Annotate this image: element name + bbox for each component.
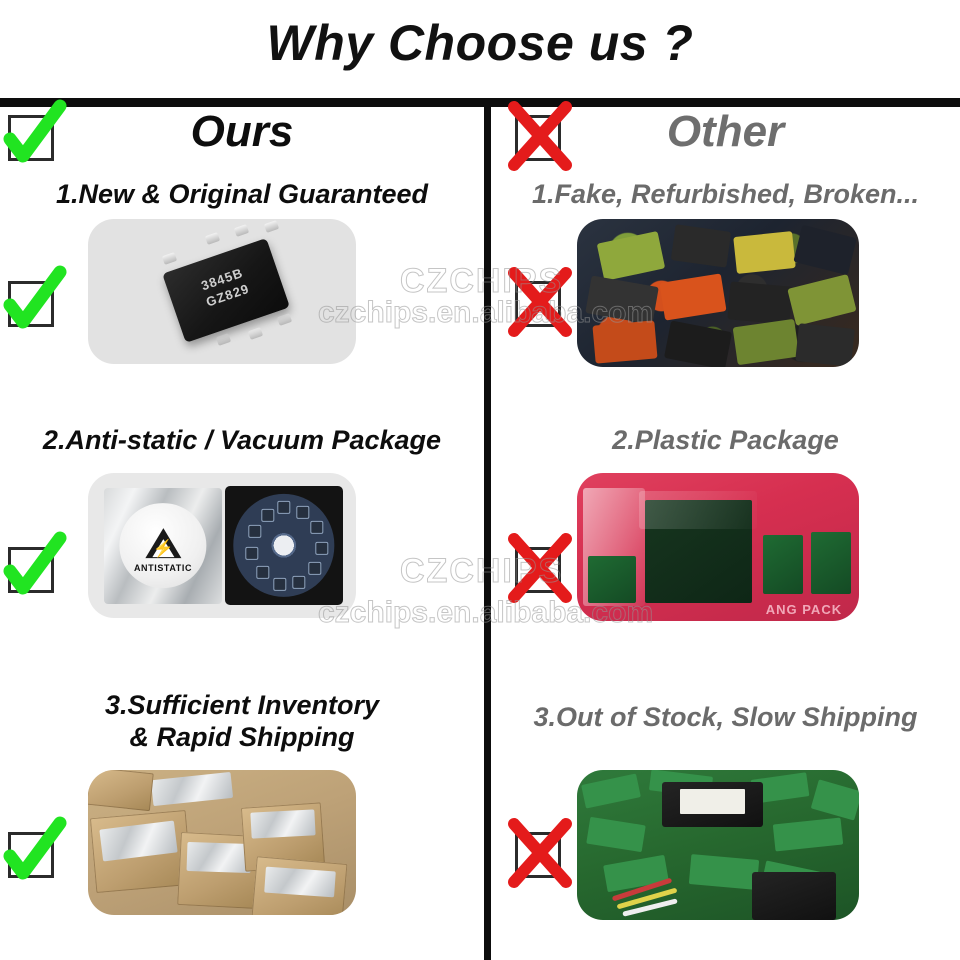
antistatic-bag: ⚡ ANTISTATIC xyxy=(104,488,222,604)
page-title: Why Choose us ? xyxy=(0,18,960,68)
other-column-header: Other xyxy=(491,107,960,179)
check-glyph xyxy=(0,816,70,890)
photo-content: ANG PACK xyxy=(577,473,859,621)
integrated-circuit-chip-photo: 3845B GZ829 xyxy=(88,219,356,364)
other-column: Other 1.Fake, Refurbished, Broken... xyxy=(491,107,960,960)
cartons-of-packed-parts-photo xyxy=(88,770,356,915)
other-row-1-heading: 1.Fake, Refurbished, Broken... xyxy=(491,179,960,211)
header-divider xyxy=(0,98,960,107)
ours-label: Ours xyxy=(0,109,484,155)
antistatic-label: ANTISTATIC xyxy=(119,563,206,573)
ours-row-2-heading: 2.Anti-static / Vacuum Package xyxy=(0,425,484,457)
ours-row-3: 3.Sufficient Inventory & Rapid Shipping xyxy=(0,690,484,960)
other-row-1: 1.Fake, Refurbished, Broken... xyxy=(491,179,960,439)
ours-column: Ours 1.New & Original Guaranteed xyxy=(0,107,484,960)
ours-row-2: 2.Anti-static / Vacuum Package ⚡ xyxy=(0,425,484,690)
lightning-bolt-icon: ⚡ xyxy=(152,540,173,557)
cross-mark-icon xyxy=(515,547,561,593)
cross-mark-icon xyxy=(515,832,561,878)
photo-content xyxy=(577,219,859,367)
cross-glyph xyxy=(503,816,577,890)
reel-disc xyxy=(233,494,334,596)
scrap-chips-pile-photo xyxy=(577,219,859,367)
other-row-2-heading: 2.Plastic Package xyxy=(491,425,960,457)
other-row-2: 2.Plastic Package ANG PACK xyxy=(491,425,960,690)
pink-plastic-bag-pcb-photo: ANG PACK xyxy=(577,473,859,621)
bag-print-text: ANG PACK xyxy=(766,602,842,617)
ours-row-1: 1.New & Original Guaranteed xyxy=(0,179,484,439)
photo-content xyxy=(577,770,859,920)
check-glyph xyxy=(0,265,70,339)
tape-reel xyxy=(225,486,343,605)
antistatic-bag-and-reel-photo: ⚡ ANTISTATIC xyxy=(88,473,356,618)
cross-mark-icon xyxy=(515,281,561,327)
check-mark-icon xyxy=(8,281,54,327)
why-choose-us-poster: Why Choose us ? Ours 1.New & Original Gu… xyxy=(0,0,960,960)
photo-content: 3845B GZ829 xyxy=(88,219,356,364)
chip-package: 3845B GZ829 xyxy=(162,238,289,342)
other-label: Other xyxy=(491,109,960,155)
other-row-3: 3.Out of Stock, Slow Shipping xyxy=(491,690,960,960)
column-divider xyxy=(484,107,491,960)
photo-content: ⚡ ANTISTATIC xyxy=(88,473,356,618)
other-row-3-heading: 3.Out of Stock, Slow Shipping xyxy=(491,702,960,734)
bag-contents-disc: ⚡ ANTISTATIC xyxy=(119,503,206,589)
check-mark-icon xyxy=(8,832,54,878)
cross-glyph xyxy=(503,265,577,339)
check-glyph xyxy=(0,531,70,605)
ours-column-header: Ours xyxy=(0,107,484,179)
green-pcb-scrap-pile-photo xyxy=(577,770,859,920)
cross-glyph xyxy=(503,531,577,605)
ours-row-3-heading-line-2: & Rapid Shipping xyxy=(0,722,484,754)
ours-row-1-heading: 1.New & Original Guaranteed xyxy=(0,179,484,211)
module-label xyxy=(680,789,745,814)
ours-row-3-heading-line-1: 3.Sufficient Inventory xyxy=(0,690,484,722)
check-mark-icon xyxy=(8,547,54,593)
photo-content xyxy=(88,770,356,915)
black-module xyxy=(662,782,764,827)
